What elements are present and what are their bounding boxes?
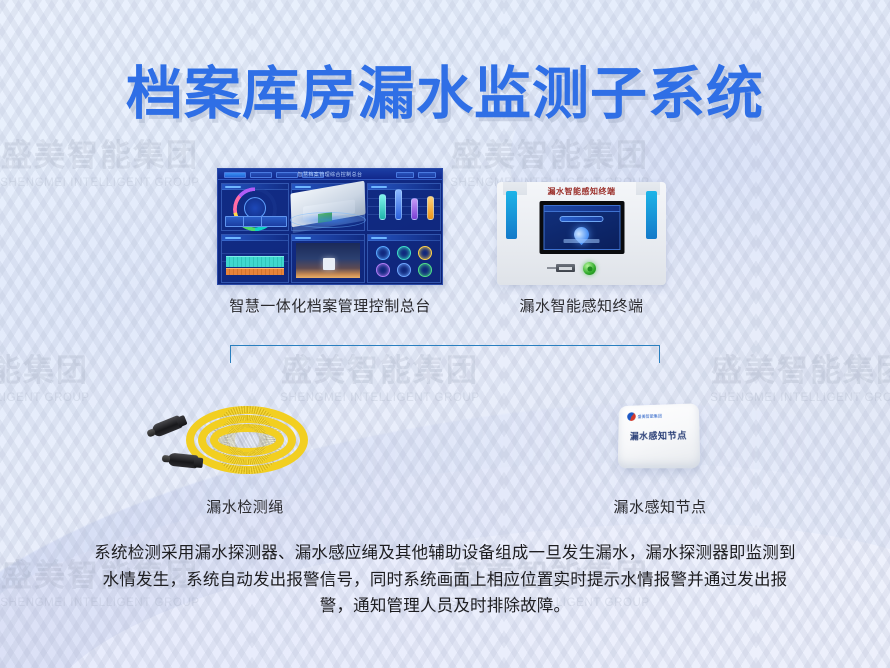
caption-console: 智慧一体化档案管理控制总台	[217, 295, 443, 316]
area-series-orange	[226, 268, 284, 275]
dashboard-nav-chip	[224, 172, 246, 179]
grid-icon-monitoring[interactable]	[372, 244, 393, 262]
terminal-device-label: 漏水智能感知终端	[548, 186, 616, 197]
watermark: 盛美智能集团 SHENGMEI INTELLIGENT GROUP	[0, 355, 150, 405]
grid-icon-access[interactable]	[372, 262, 393, 280]
terminal-accent-left	[506, 191, 517, 239]
grid-icon-broadcast[interactable]	[393, 262, 414, 280]
product-image-console: 智慧档案管理综合控制总台	[217, 168, 443, 285]
cable-connector-bottom	[167, 452, 198, 468]
bar-series-4	[427, 196, 434, 220]
grid-icon-alarm[interactable]	[415, 244, 436, 262]
brand-mark-icon	[627, 412, 636, 421]
bar-series-2	[395, 189, 402, 220]
dashboard-area-chart-panel	[221, 234, 289, 283]
video-feed-image	[296, 243, 360, 278]
terminal-screen[interactable]	[539, 201, 624, 254]
bar-series-3	[411, 198, 418, 220]
dashboard-title: 智慧档案管理综合控制总台	[298, 171, 363, 178]
cable-connector-top	[151, 415, 184, 438]
section-bracket-line	[230, 345, 660, 363]
terminal-screen-title-pill	[560, 216, 604, 222]
node-brand-logo: 盛美智能集团	[627, 411, 662, 421]
caption-node: 漏水感知节点	[575, 496, 745, 517]
caption-rope: 漏水检测绳	[150, 496, 340, 517]
grid-icon-settings[interactable]	[415, 262, 436, 280]
cable-coil-inner	[210, 424, 284, 456]
terminal-connector-port	[556, 264, 575, 272]
dashboard-bar-chart-panel	[367, 183, 441, 231]
bar-series-1	[379, 194, 386, 220]
caption-terminal: 漏水智能感知终端	[497, 295, 666, 316]
product-image-terminal: 漏水智能感知终端	[497, 182, 666, 285]
building-model-base-ring	[290, 212, 366, 228]
dashboard-nav-chip	[276, 172, 298, 179]
panel-header	[292, 235, 364, 241]
page-title: 档案库房漏水监测子系统	[0, 48, 890, 130]
panel-header	[368, 235, 440, 241]
dashboard-3d-model-panel	[291, 183, 365, 231]
dashboard-gauge-panel	[221, 183, 289, 231]
terminal-screen-topbar	[544, 206, 619, 212]
page-title-wrapper: 档案库房漏水监测子系统	[0, 48, 890, 130]
terminal-screen-ui	[543, 205, 620, 250]
watermark: 盛美智能集团 SHENGMEI INTELLIGENT GROUP	[830, 560, 890, 610]
watermark: 盛美智能集团 SHENGMEI INTELLIGENT GROUP	[830, 140, 890, 190]
product-image-node: 盛美智能集团 漏水感知节点	[618, 403, 701, 468]
panel-header	[222, 235, 288, 241]
function-icon-grid	[372, 244, 436, 279]
node-device-label: 漏水感知节点	[618, 428, 699, 442]
brand-name: 盛美智能集团	[638, 413, 663, 420]
terminal-accent-right	[646, 191, 657, 239]
dashboard-user-chip	[396, 172, 414, 179]
description-paragraph: 系统检测采用漏水探测器、漏水感应绳及其他辅助设备组成一旦发生漏水，漏水探测器即监…	[86, 540, 804, 620]
dashboard-icon-grid-panel	[367, 234, 441, 283]
area-series-teal	[226, 256, 284, 267]
dashboard-video-panel	[291, 234, 365, 283]
poster-page: 盛美智能集团 SHENGMEI INTELLIGENT GROUP 盛美智能集团…	[0, 0, 890, 668]
watermark: 盛美智能集团 SHENGMEI INTELLIGENT GROUP	[650, 355, 890, 405]
area-chart	[226, 256, 284, 278]
terminal-status-led	[583, 262, 596, 275]
dashboard-nav-chip	[250, 172, 272, 179]
dashboard-header-bar: 智慧档案管理综合控制总台	[218, 169, 442, 180]
dashboard-time-chip	[418, 172, 436, 179]
background-wave-1	[0, 359, 890, 668]
panel-header	[368, 184, 440, 190]
grid-icon-environment[interactable]	[393, 244, 414, 262]
terminal-screen-status-text	[564, 239, 600, 243]
gauge-stat-button[interactable]	[261, 216, 287, 227]
product-image-rope	[150, 398, 340, 488]
